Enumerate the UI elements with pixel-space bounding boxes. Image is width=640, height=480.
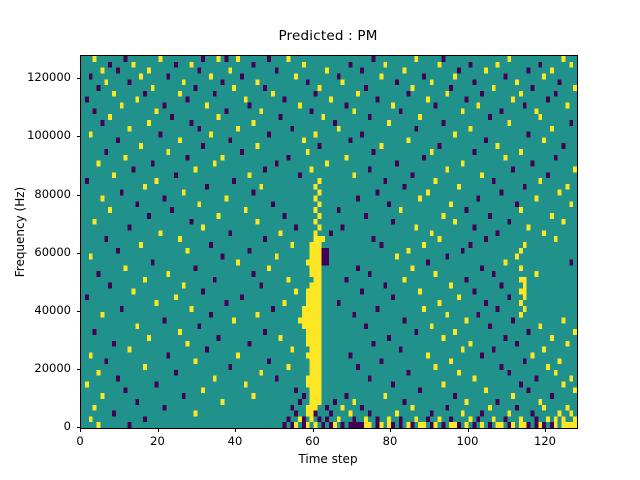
x-tick-mark (313, 428, 314, 432)
y-tick-mark (77, 311, 81, 312)
x-tick-mark (545, 428, 546, 432)
x-tick-label: 120 (515, 434, 575, 448)
x-tick-label: 80 (360, 434, 420, 448)
x-tick-mark (80, 428, 81, 432)
x-tick-label: 100 (438, 434, 498, 448)
x-axis-label: Time step (80, 452, 576, 466)
x-tick-label: 20 (128, 434, 188, 448)
x-tick-mark (468, 428, 469, 432)
y-tick-mark (77, 195, 81, 196)
y-tick-mark (77, 136, 81, 137)
x-tick-mark (390, 428, 391, 432)
heatmap-canvas[interactable] (81, 56, 577, 428)
y-tick-mark (77, 369, 81, 370)
x-tick-mark (235, 428, 236, 432)
x-tick-label: 0 (50, 434, 110, 448)
y-tick-mark (77, 78, 81, 79)
y-tick-label: 0 (0, 419, 71, 433)
y-tick-label: 60000 (0, 245, 71, 259)
y-tick-label: 100000 (0, 128, 71, 142)
y-tick-label: 20000 (0, 361, 71, 375)
x-tick-label: 60 (283, 434, 343, 448)
x-tick-mark (158, 428, 159, 432)
chart-title: Predicted : PM (80, 28, 576, 44)
matplotlib-figure: Predicted : PM 0200004000060000800001000… (0, 0, 640, 480)
y-tick-mark (77, 253, 81, 254)
y-axis-label: Frequency (Hz) (13, 132, 27, 332)
y-tick-label: 80000 (0, 187, 71, 201)
x-tick-label: 40 (205, 434, 265, 448)
heatmap-plot-area[interactable] (80, 55, 578, 429)
y-tick-label: 40000 (0, 303, 71, 317)
y-tick-label: 120000 (0, 70, 71, 84)
